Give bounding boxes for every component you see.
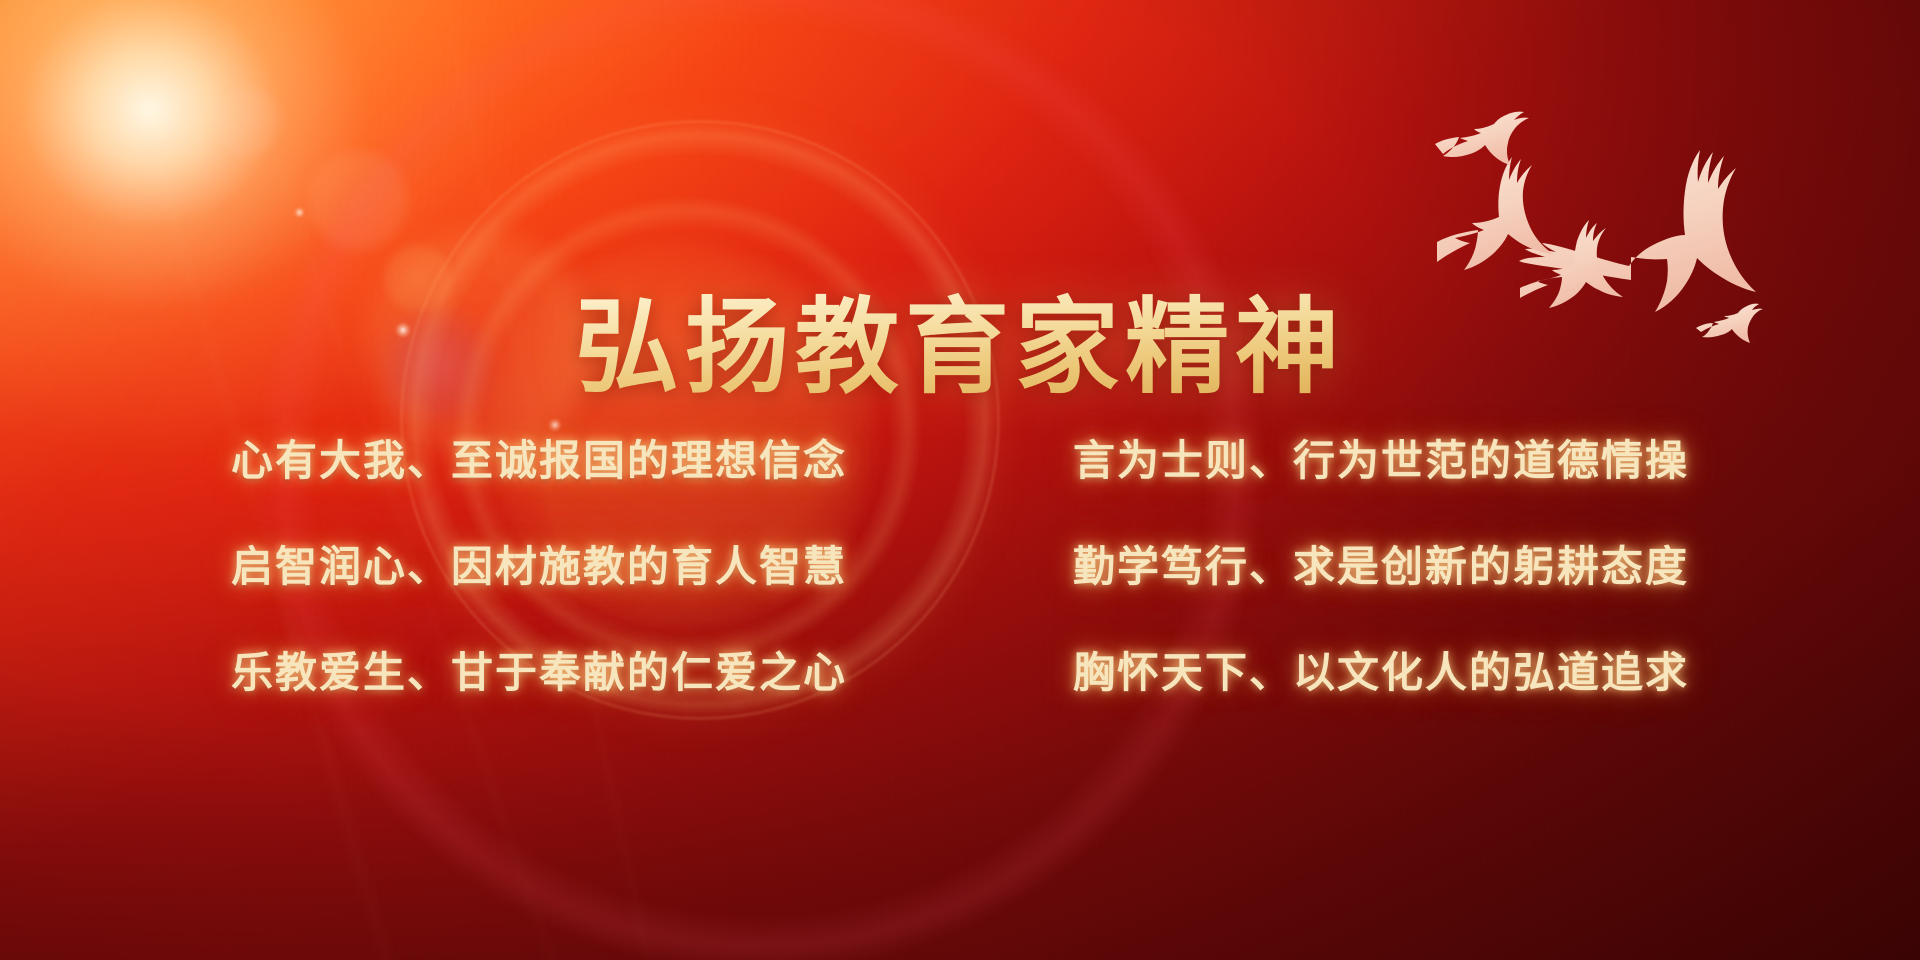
spirit-line-row2-right: 勤学笃行、求是创新的躬耕态度 [1073,536,1689,598]
spirit-line-row1-right: 言为士则、行为世范的道德情操 [1073,430,1689,492]
flare-bokeh-small-b-icon [208,82,286,160]
bird-small-top-icon [1435,112,1529,165]
spirit-line-row3-left: 乐教爱生、甘于奉献的仁爱之心 [231,642,847,704]
spirit-lines-grid: 心有大我、至诚报国的理想信念 言为士则、行为世范的道德情操 启智润心、因材施教的… [0,430,1920,704]
flare-spark-tiny-icon [294,207,305,218]
spirit-line-row2-left: 启智润心、因材施教的育人智慧 [231,536,847,598]
spirit-line-row1-left: 心有大我、至诚报国的理想信念 [231,430,847,492]
education-spirit-banner: 弘扬教育家精神 心有大我、至诚报国的理想信念 言为士则、行为世范的道德情操 启智… [0,0,1920,960]
spirit-line-row3-right: 胸怀天下、以文化人的弘道追求 [1073,642,1689,704]
page-title: 弘扬教育家精神 [0,288,1920,411]
